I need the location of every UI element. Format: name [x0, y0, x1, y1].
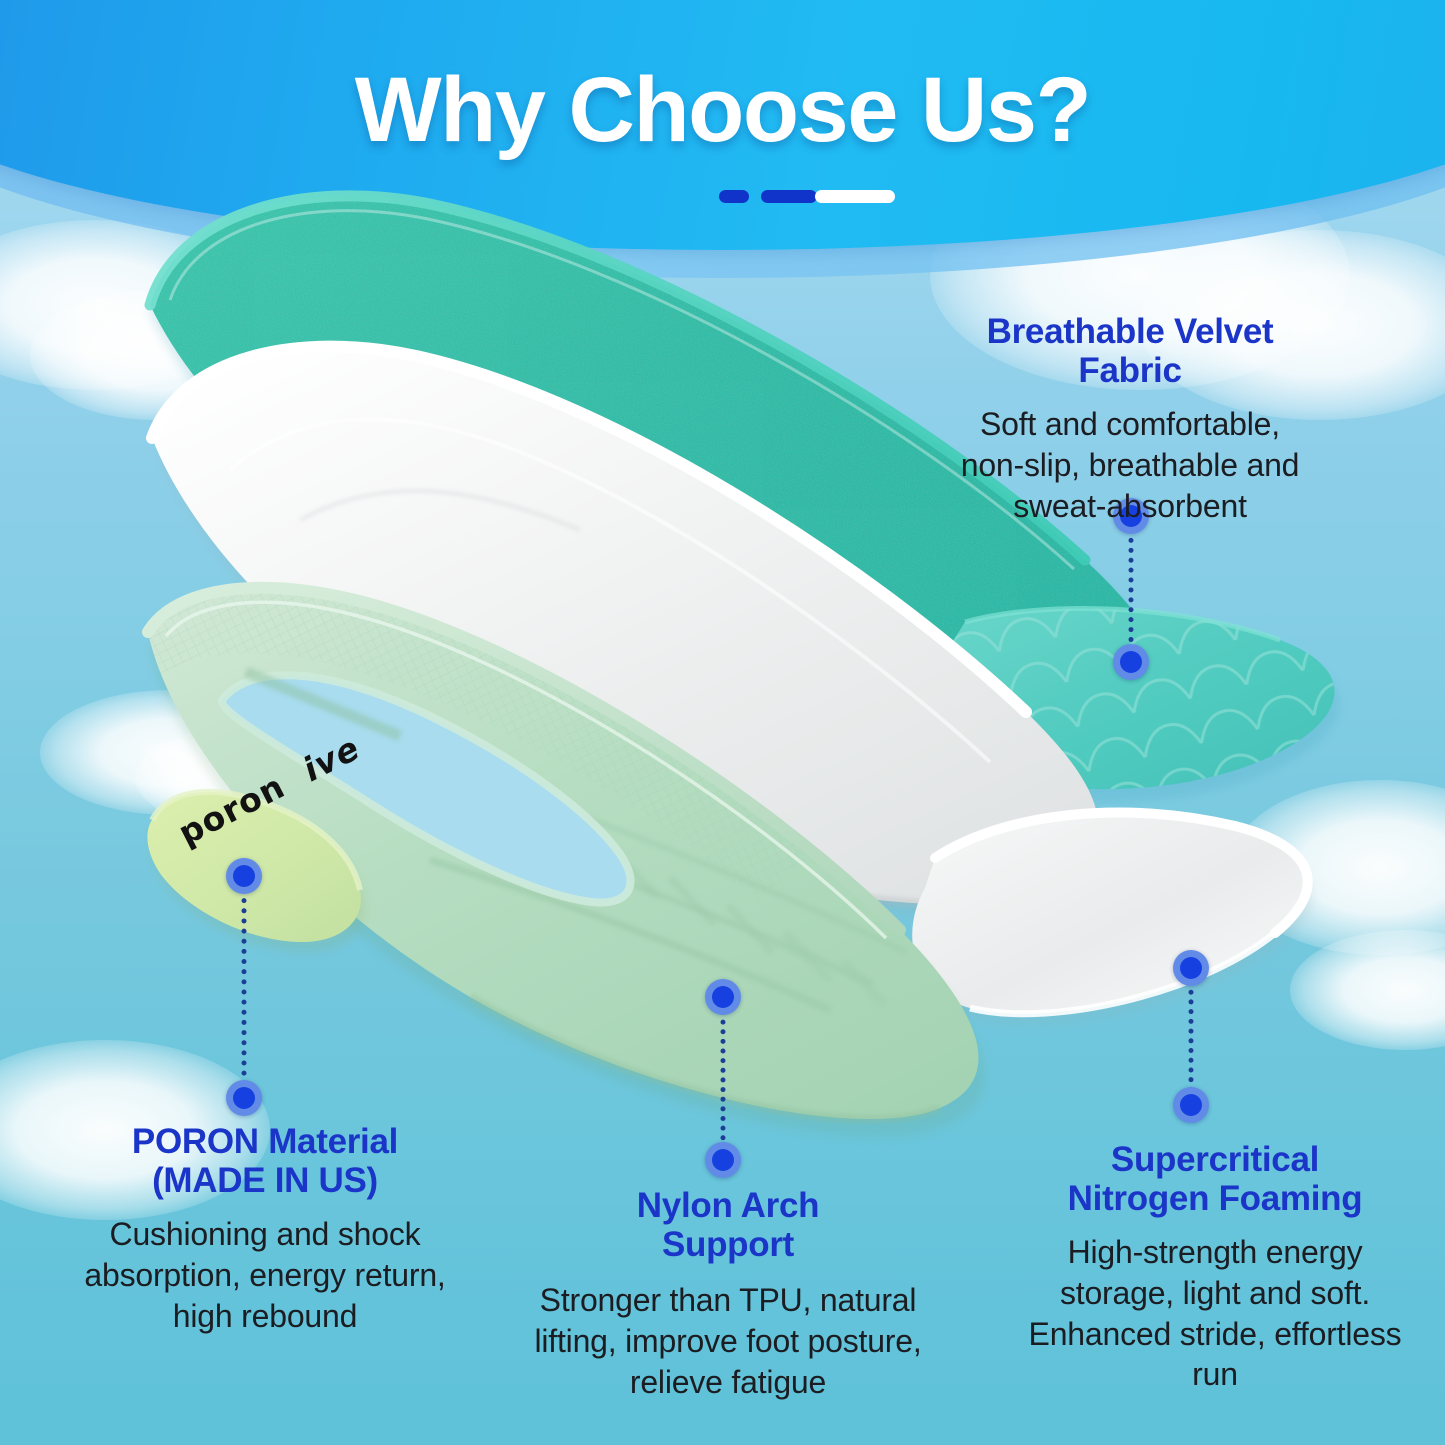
callout-poron-material: PORON Material (MADE IN US) Cushioning a… [50, 1122, 480, 1336]
callout-title: Supercritical Nitrogen Foaming [1000, 1140, 1430, 1218]
callout-nylon-arch-support: Nylon Arch Support Stronger than TPU, na… [508, 1186, 948, 1402]
leader-line-poron [242, 888, 247, 1086]
marker-poron-point[interactable] [226, 858, 262, 894]
callout-body: Cushioning and shock absorption, energy … [50, 1214, 480, 1336]
marker-nitrogen-point[interactable] [1173, 950, 1209, 986]
leader-line-nylon [721, 1010, 726, 1150]
callout-body: High-strength energy storage, light and … [1000, 1232, 1430, 1395]
callout-title: Nylon Arch Support [508, 1186, 948, 1264]
callout-supercritical-nitrogen-foaming: Supercritical Nitrogen Foaming High-stre… [1000, 1140, 1430, 1395]
callout-title: Breathable Velvet Fabric [918, 312, 1342, 390]
foam-heel-wedge [912, 812, 1312, 1025]
infographic-canvas: Why Choose Us? [0, 0, 1445, 1445]
callout-body: Soft and comfortable, non-slip, breathab… [918, 404, 1342, 526]
marker-velvet-point[interactable] [1113, 644, 1149, 680]
marker-nylon-point[interactable] [705, 979, 741, 1015]
leader-line-nitrogen [1189, 980, 1194, 1092]
marker-nitrogen-bottom[interactable] [1173, 1087, 1209, 1123]
leader-line-velvet [1129, 528, 1134, 652]
marker-poron-bottom[interactable] [226, 1080, 262, 1116]
callout-breathable-velvet-fabric: Breathable Velvet Fabric Soft and comfor… [918, 312, 1342, 526]
callout-body: Stronger than TPU, natural lifting, impr… [508, 1280, 948, 1402]
callout-title: PORON Material (MADE IN US) [50, 1122, 480, 1200]
marker-nylon-bottom[interactable] [705, 1142, 741, 1178]
